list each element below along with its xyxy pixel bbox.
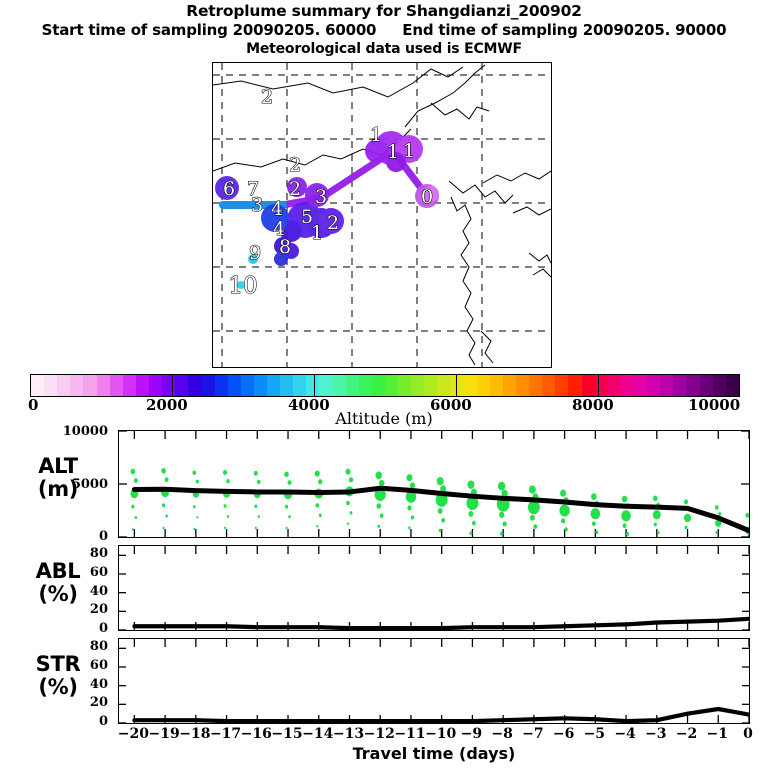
alt-plot-panel[interactable] <box>118 430 750 538</box>
str-ytick-0: 0 <box>42 714 108 729</box>
colorbar-swatch <box>490 375 503 396</box>
colorbar-swatch <box>621 375 634 396</box>
x-tick-−17: −17 <box>210 726 242 742</box>
colorbar-swatch <box>70 375 83 396</box>
colorbar-swatch <box>267 375 280 396</box>
colorbar-swatch <box>516 375 529 396</box>
colorbar-swatch <box>149 375 162 396</box>
colorbar-swatch <box>57 375 70 396</box>
colorbar-swatch <box>726 375 739 396</box>
x-tick-−7: −7 <box>517 726 549 742</box>
x-tick-−1: −1 <box>701 726 733 742</box>
day-label: 2 <box>327 212 339 234</box>
alt-ytick-0: 0 <box>42 529 108 544</box>
colorbar-swatch <box>110 375 123 396</box>
str-plot-panel[interactable] <box>118 638 750 724</box>
day-label: 2 <box>289 154 301 176</box>
colorbar-swatch <box>306 375 319 396</box>
colorbar-swatch <box>228 375 241 396</box>
day-label: 3 <box>315 186 327 208</box>
colorbar-swatch <box>385 375 398 396</box>
colorbar-swatch <box>686 375 699 396</box>
colorbar-swatch <box>201 375 214 396</box>
spacer <box>376 21 402 40</box>
x-tick-−9: −9 <box>455 726 487 742</box>
colorbar-swatch <box>634 375 647 396</box>
colorbar-swatch <box>162 375 175 396</box>
day-label: 2 <box>261 86 273 108</box>
colorbar-swatch <box>398 375 411 396</box>
colorbar-swatch <box>280 375 293 396</box>
sampling-time-line: Start time of sampling 20090205. 60000 E… <box>0 21 768 40</box>
day-label: 2 <box>289 178 301 200</box>
x-tick-−15: −15 <box>271 726 303 742</box>
x-tick-−5: −5 <box>578 726 610 742</box>
start-time-label: Start time of sampling 20090205. 60000 <box>42 21 377 40</box>
day-label: 8 <box>279 236 291 258</box>
day-label: 1 <box>387 141 399 163</box>
str-ytick-80: 80 <box>42 639 108 654</box>
colorbar-swatch <box>44 375 57 396</box>
x-tick-−19: −19 <box>148 726 180 742</box>
x-tick-−10: −10 <box>425 726 457 742</box>
colorbar-swatch <box>582 375 595 396</box>
day-label: 4 <box>271 198 283 220</box>
x-tick-−16: −16 <box>240 726 272 742</box>
day-label: 10 <box>228 273 257 299</box>
colorbar-swatch <box>555 375 568 396</box>
colorbar-swatch <box>372 375 385 396</box>
colorbar-swatch <box>424 375 437 396</box>
x-tick-−13: −13 <box>332 726 364 742</box>
colorbar-swatch <box>542 375 555 396</box>
day-label: 1 <box>311 222 323 244</box>
colorbar-swatch <box>437 375 450 396</box>
end-time-label: End time of sampling 20090205. 90000 <box>402 21 726 40</box>
colorbar-swatch <box>188 375 201 396</box>
day-label: 7 <box>247 178 259 200</box>
day-label: 6 <box>223 178 235 200</box>
colorbar-swatch <box>175 375 188 396</box>
alt-plot-canvas <box>119 431 749 537</box>
colorbar-gradient <box>31 375 739 396</box>
colorbar-swatch <box>529 375 542 396</box>
retroplume-map[interactable]: 2 1 1 1 0 2 2 3 3 6 7 4 4 5 1 2 8 9 10 <box>212 62 552 368</box>
colorbar-swatch <box>346 375 359 396</box>
colorbar-swatch <box>333 375 346 396</box>
colorbar-swatch <box>503 375 516 396</box>
colorbar-swatch <box>713 375 726 396</box>
map-canvas: 2 1 1 1 0 2 2 3 3 6 7 4 4 5 1 2 8 9 10 <box>213 63 551 367</box>
day-label: 1 <box>403 140 415 162</box>
page-title: Retroplume summary for Shangdianzi_20090… <box>0 2 768 21</box>
colorbar-swatch <box>359 375 372 396</box>
alt-ytick-5000: 5000 <box>42 477 108 492</box>
title-block: Retroplume summary for Shangdianzi_20090… <box>0 2 768 58</box>
met-data-label: Meteorological data used is ECMWF <box>0 40 768 58</box>
abl-ytick-60: 60 <box>42 565 108 580</box>
x-tick-−4: −4 <box>609 726 641 742</box>
colorbar-swatch <box>660 375 673 396</box>
colorbar-divider <box>172 374 173 397</box>
day-label: 0 <box>421 186 433 208</box>
abl-plot-canvas <box>119 546 749 630</box>
abl-ytick-20: 20 <box>42 602 108 617</box>
colorbar-swatch <box>97 375 110 396</box>
day-label: 9 <box>249 242 261 264</box>
colorbar-swatch <box>464 375 477 396</box>
x-tick-0: 0 <box>732 726 764 742</box>
colorbar-swatch <box>568 375 581 396</box>
colorbar-swatch <box>241 375 254 396</box>
colorbar-swatch <box>411 375 424 396</box>
colorbar-title: Altitude (m) <box>0 409 768 428</box>
x-tick-−14: −14 <box>302 726 334 742</box>
abl-ytick-40: 40 <box>42 584 108 599</box>
colorbar-swatch <box>215 375 228 396</box>
abl-ytick-0: 0 <box>42 621 108 636</box>
colorbar-swatch <box>319 375 332 396</box>
colorbar-swatch <box>136 375 149 396</box>
x-tick-−2: −2 <box>671 726 703 742</box>
colorbar-swatch <box>293 375 306 396</box>
altitude-colorbar <box>30 374 740 397</box>
colorbar-swatch <box>254 375 267 396</box>
x-tick-−18: −18 <box>179 726 211 742</box>
abl-plot-panel[interactable] <box>118 545 750 631</box>
colorbar-swatch <box>123 375 136 396</box>
str-ytick-40: 40 <box>42 677 108 692</box>
colorbar-divider <box>456 374 457 397</box>
abl-ytick-80: 80 <box>42 546 108 561</box>
str-ytick-60: 60 <box>42 658 108 673</box>
alt-ytick-10000: 10000 <box>42 424 108 439</box>
x-tick-−6: −6 <box>548 726 580 742</box>
colorbar-swatch <box>608 375 621 396</box>
x-tick-−8: −8 <box>486 726 518 742</box>
colorbar-swatch <box>83 375 96 396</box>
colorbar-swatch <box>673 375 686 396</box>
str-ytick-20: 20 <box>42 695 108 710</box>
colorbar-divider <box>314 374 315 397</box>
x-tick-−3: −3 <box>640 726 672 742</box>
colorbar-swatch <box>647 375 660 396</box>
day-label: 1 <box>370 124 382 146</box>
str-plot-canvas <box>119 639 749 723</box>
x-axis-tick-labels: −20−19−18−17−16−15−14−13−12−11−10−9−8−7−… <box>0 726 768 744</box>
colorbar-swatch <box>451 375 464 396</box>
colorbar-swatch <box>31 375 44 396</box>
x-tick-−12: −12 <box>363 726 395 742</box>
colorbar-swatch <box>595 375 608 396</box>
colorbar-swatch <box>477 375 490 396</box>
x-tick-−11: −11 <box>394 726 426 742</box>
x-axis-title: Travel time (days) <box>118 744 750 763</box>
colorbar-divider <box>598 374 599 397</box>
x-tick-−20: −20 <box>117 726 149 742</box>
colorbar-swatch <box>700 375 713 396</box>
